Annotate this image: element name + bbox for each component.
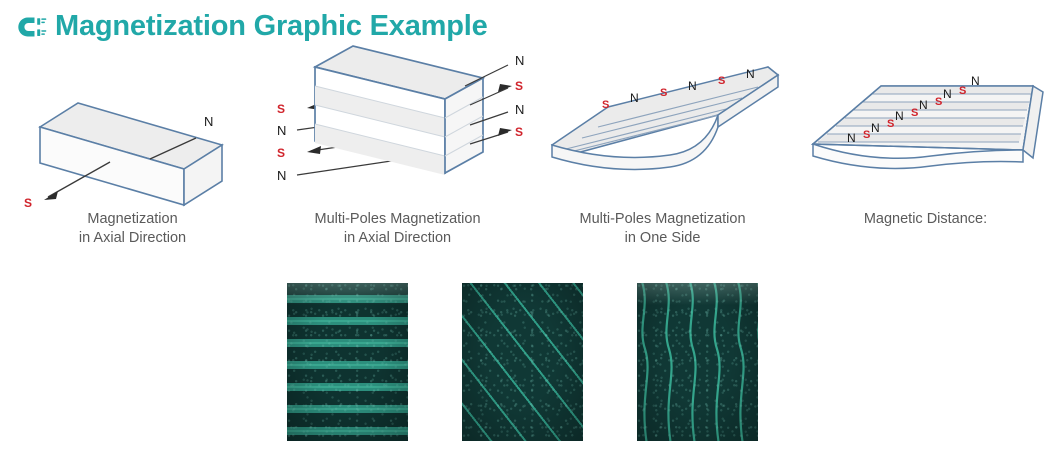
film-grain-overlay xyxy=(287,283,408,441)
wavy-lines xyxy=(637,283,758,441)
pole-label-north: N xyxy=(277,168,286,183)
pole-label-south: S xyxy=(959,85,966,97)
pole-label-south: S xyxy=(515,125,523,139)
caption-line: Magnetization xyxy=(0,210,265,229)
photo-viewer-film-wavy xyxy=(637,283,758,441)
caption-axial-multi-pole: Multi-Poles Magnetization in Axial Direc… xyxy=(265,210,530,248)
diagram-one-side-multi-pole: S N S N S N xyxy=(530,45,795,235)
horseshoe-magnet-icon xyxy=(14,11,48,45)
pole-label-south: S xyxy=(602,99,609,111)
pole-label-north: N xyxy=(895,109,904,123)
pole-label-north: N xyxy=(630,91,639,105)
photo-viewer-film-horizontal xyxy=(287,283,408,441)
pole-label-south: S xyxy=(277,102,285,116)
film-vignette xyxy=(287,283,408,441)
caption-line: in Axial Direction xyxy=(265,229,530,248)
pole-label-south: S xyxy=(911,107,918,119)
pole-label-south: S xyxy=(515,79,523,93)
pole-label-north: N xyxy=(204,114,213,129)
caption-line: Multi-Poles Magnetization xyxy=(265,210,530,229)
caption-line: in Axial Direction xyxy=(0,229,265,248)
pole-label-north: N xyxy=(943,87,952,101)
pole-label-south: S xyxy=(24,196,32,210)
pole-label-north: N xyxy=(919,98,928,112)
pole-label-north: N xyxy=(847,131,856,145)
pole-label-south: S xyxy=(863,129,870,141)
pole-label-north: N xyxy=(277,123,286,138)
diagram-magnetic-distance: N S N S N S N S N S N xyxy=(795,40,1056,230)
caption-axial-single-pole: Magnetization in Axial Direction xyxy=(0,210,265,248)
pole-label-south: S xyxy=(277,146,285,160)
pole-label-north: N xyxy=(688,79,697,93)
pole-label-south: S xyxy=(660,87,667,99)
pole-label-north: N xyxy=(515,102,524,117)
caption-one-side-multi-pole: Multi-Poles Magnetization in One Side xyxy=(530,210,795,248)
caption-magnetic-distance: Magnetic Distance: xyxy=(795,210,1056,229)
pole-label-south: S xyxy=(718,75,725,87)
photo-viewer-film-diagonal xyxy=(462,283,583,441)
film-vignette xyxy=(462,283,583,441)
pole-label-south: S xyxy=(887,118,894,130)
pole-label-south: S xyxy=(935,96,942,108)
film-grain-overlay xyxy=(462,283,583,441)
caption-line: Magnetic Distance: xyxy=(795,210,1056,229)
pole-label-north: N xyxy=(515,53,524,68)
caption-line: in One Side xyxy=(530,229,795,248)
pole-label-north: N xyxy=(971,74,980,88)
caption-line: Multi-Poles Magnetization xyxy=(530,210,795,229)
film-highlight xyxy=(287,283,408,305)
pole-label-north: N xyxy=(871,121,880,135)
pole-label-north: N xyxy=(746,67,755,81)
